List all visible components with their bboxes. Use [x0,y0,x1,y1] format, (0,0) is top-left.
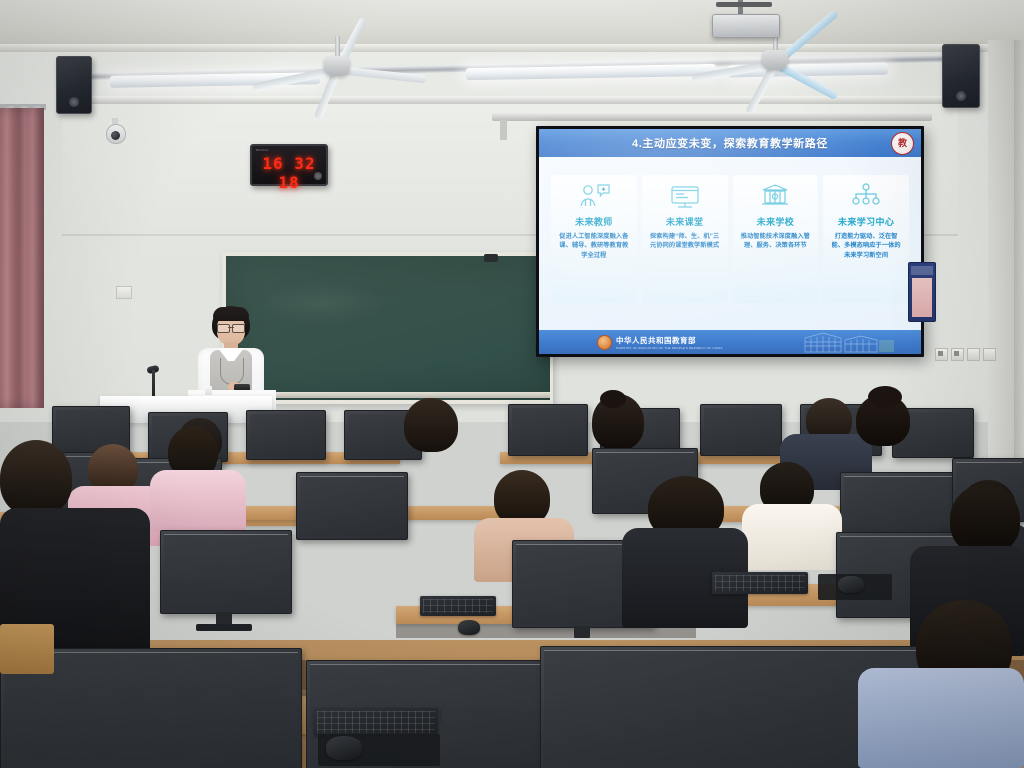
future-teacher-icon [577,179,611,213]
projector-arm [716,2,772,7]
projection-screen-bracket [500,118,507,140]
card-body: 探索构建“师、生、机”三元协同的课堂教学新模式 [642,228,728,251]
attendee-torso [150,470,246,532]
attendee-head [404,398,458,452]
keyboard-keys [715,575,805,591]
light-switch-2[interactable] [951,348,964,361]
card-title: 未来课堂 [666,215,704,228]
presenter-lanyard [220,358,244,385]
slide-card-future-learning-center: 未来学习中心 打造能力驱动、泛在智能、多模态响应于一体的未来学习新空间 [823,175,909,303]
mouse[interactable] [458,620,480,635]
moe-seal-icon [597,335,612,350]
classroom-scene: DIGITAL 16 32 18 4.主动应变未变，探索教育教学新路径 教 [0,0,1024,768]
attendee-head [950,484,1020,554]
ceiling-projector [708,0,782,38]
keyboard[interactable] [314,708,438,736]
chair-back [0,624,54,674]
slide-title-bar: 4.主动应变未变，探索教育教学新路径 教 [539,129,921,157]
projection-screen: 4.主动应变未变，探索教育教学新路径 教 [536,126,924,357]
slide-card-future-classroom: 未来课堂 探索构建“师、生、机”三元协同的课堂教学新模式 [642,175,728,303]
glasses-lens-left [217,324,230,333]
light-switch-1[interactable] [935,348,948,361]
clock-set-button[interactable] [314,172,322,180]
monitor [700,404,782,456]
card-title: 未来教师 [575,215,613,228]
wall-notice-board[interactable] [908,262,936,322]
monitor-stand [574,626,590,638]
card-body: 打造能力驱动、泛在智能、多模态响应于一体的未来学习新空间 [823,228,909,260]
ministry-name-cn: 中华人民共和国教育部 [616,335,723,346]
wall-outlet[interactable] [116,286,132,299]
future-learning-center-icon [849,179,883,213]
attendee-torso [858,668,1024,768]
building-graphic [801,331,897,353]
future-school-icon [758,179,792,213]
projection-screen-housing [492,112,932,121]
ministry-branding: 中华人民共和国教育部 MINISTRY OF EDUCATION OF THE … [597,335,723,350]
notice-body [912,278,932,317]
keyboard-keys [423,599,493,613]
monitor [246,410,326,460]
keyboard[interactable] [712,572,808,594]
clock-brand-label: DIGITAL [256,148,269,152]
wall-speaker-right [942,44,980,108]
presenter-hair-front [213,307,249,321]
card-body: 促进人工智能深度融入备课、辅导、教研等教育教学全过程 [551,228,637,260]
monitor [160,530,292,614]
podium-cup [205,386,212,395]
mouse[interactable] [838,576,864,593]
institution-logo-icon: 教 [891,132,914,155]
light-switch-3[interactable] [967,348,980,361]
wall-speaker-left [56,56,92,114]
fan-hub [324,56,350,76]
glasses-bridge [228,327,234,328]
slide-card-future-teacher: 未来教师 促进人工智能深度融入备课、辅导、教研等教育教学全过程 [551,175,637,303]
keyboard[interactable] [420,596,496,616]
ministry-name-en: MINISTRY OF EDUCATION OF THE PEOPLE'S RE… [616,346,723,350]
attendee-hair-bun [600,390,626,408]
slide-card-future-school: 未来学校 推动智能技术深度融入管理、服务、决策各环节 [733,175,819,303]
slide-title-text: 4.主动应变未变，探索教育教学新路径 [632,135,828,151]
keyboard-keys [317,711,435,733]
attendee-hair-bun [868,386,902,408]
light-switch-panel[interactable] [935,348,996,361]
attendee-head [0,440,72,516]
led-wall-clock: DIGITAL 16 32 18 [250,144,328,186]
card-title: 未来学校 [757,215,795,228]
monitor [508,404,588,456]
slide-footer: 中华人民共和国教育部 MINISTRY OF EDUCATION OF THE … [539,330,921,354]
camera-lens-icon [111,131,120,140]
fan-hub [762,50,788,70]
chalkboard-clip [484,254,498,262]
monitor-base [196,624,252,631]
notice-header [911,266,933,275]
monitor [296,472,408,540]
card-body: 推动智能技术深度融入管理、服务、决策各环节 [733,228,819,251]
peripheral-cable [440,702,463,728]
card-title: 未来学习中心 [838,215,894,228]
glasses-lens-right [232,324,245,333]
slide-card-row: 未来教师 促进人工智能深度融入备课、辅导、教研等教育教学全过程 未来课堂 探索构… [551,175,909,303]
ceiling [0,0,1024,48]
future-classroom-icon [668,179,702,213]
security-camera [104,118,126,144]
right-wall-edge [1014,40,1024,470]
presenter-glasses [217,324,245,331]
wall-trim [60,96,960,104]
window-curtain[interactable] [0,108,44,408]
attendee-torso [742,504,842,570]
mouse[interactable] [326,736,362,760]
logo-glyph: 教 [898,139,907,148]
presentation-slide: 4.主动应变未变，探索教育教学新路径 教 [539,129,921,354]
projector-body [712,14,780,38]
light-switch-4[interactable] [983,348,996,361]
ceiling-fan-left [322,36,352,80]
